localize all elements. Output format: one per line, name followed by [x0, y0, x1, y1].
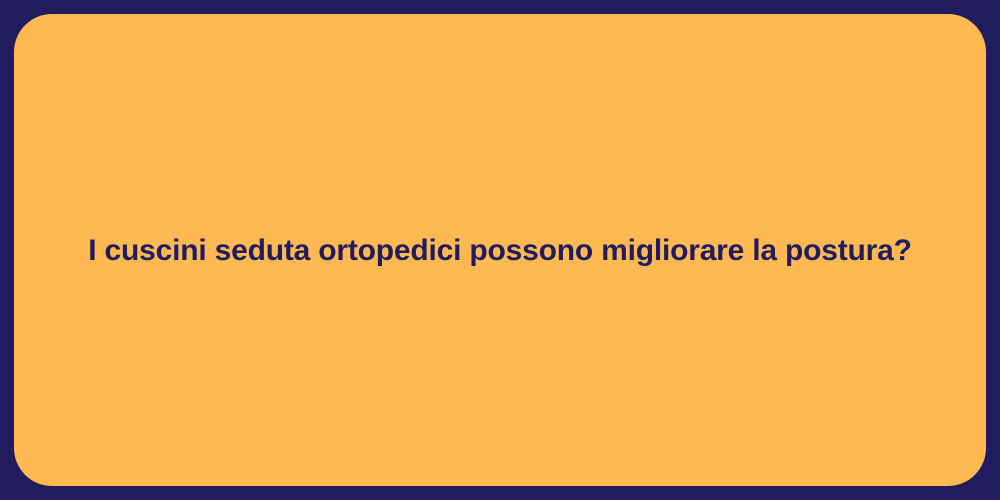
headline-question-text: I cuscini seduta ortopedici possono migl…: [48, 232, 952, 270]
card-content-panel: I cuscini seduta ortopedici possono migl…: [14, 14, 986, 486]
question-card: I cuscini seduta ortopedici possono migl…: [0, 0, 1000, 500]
